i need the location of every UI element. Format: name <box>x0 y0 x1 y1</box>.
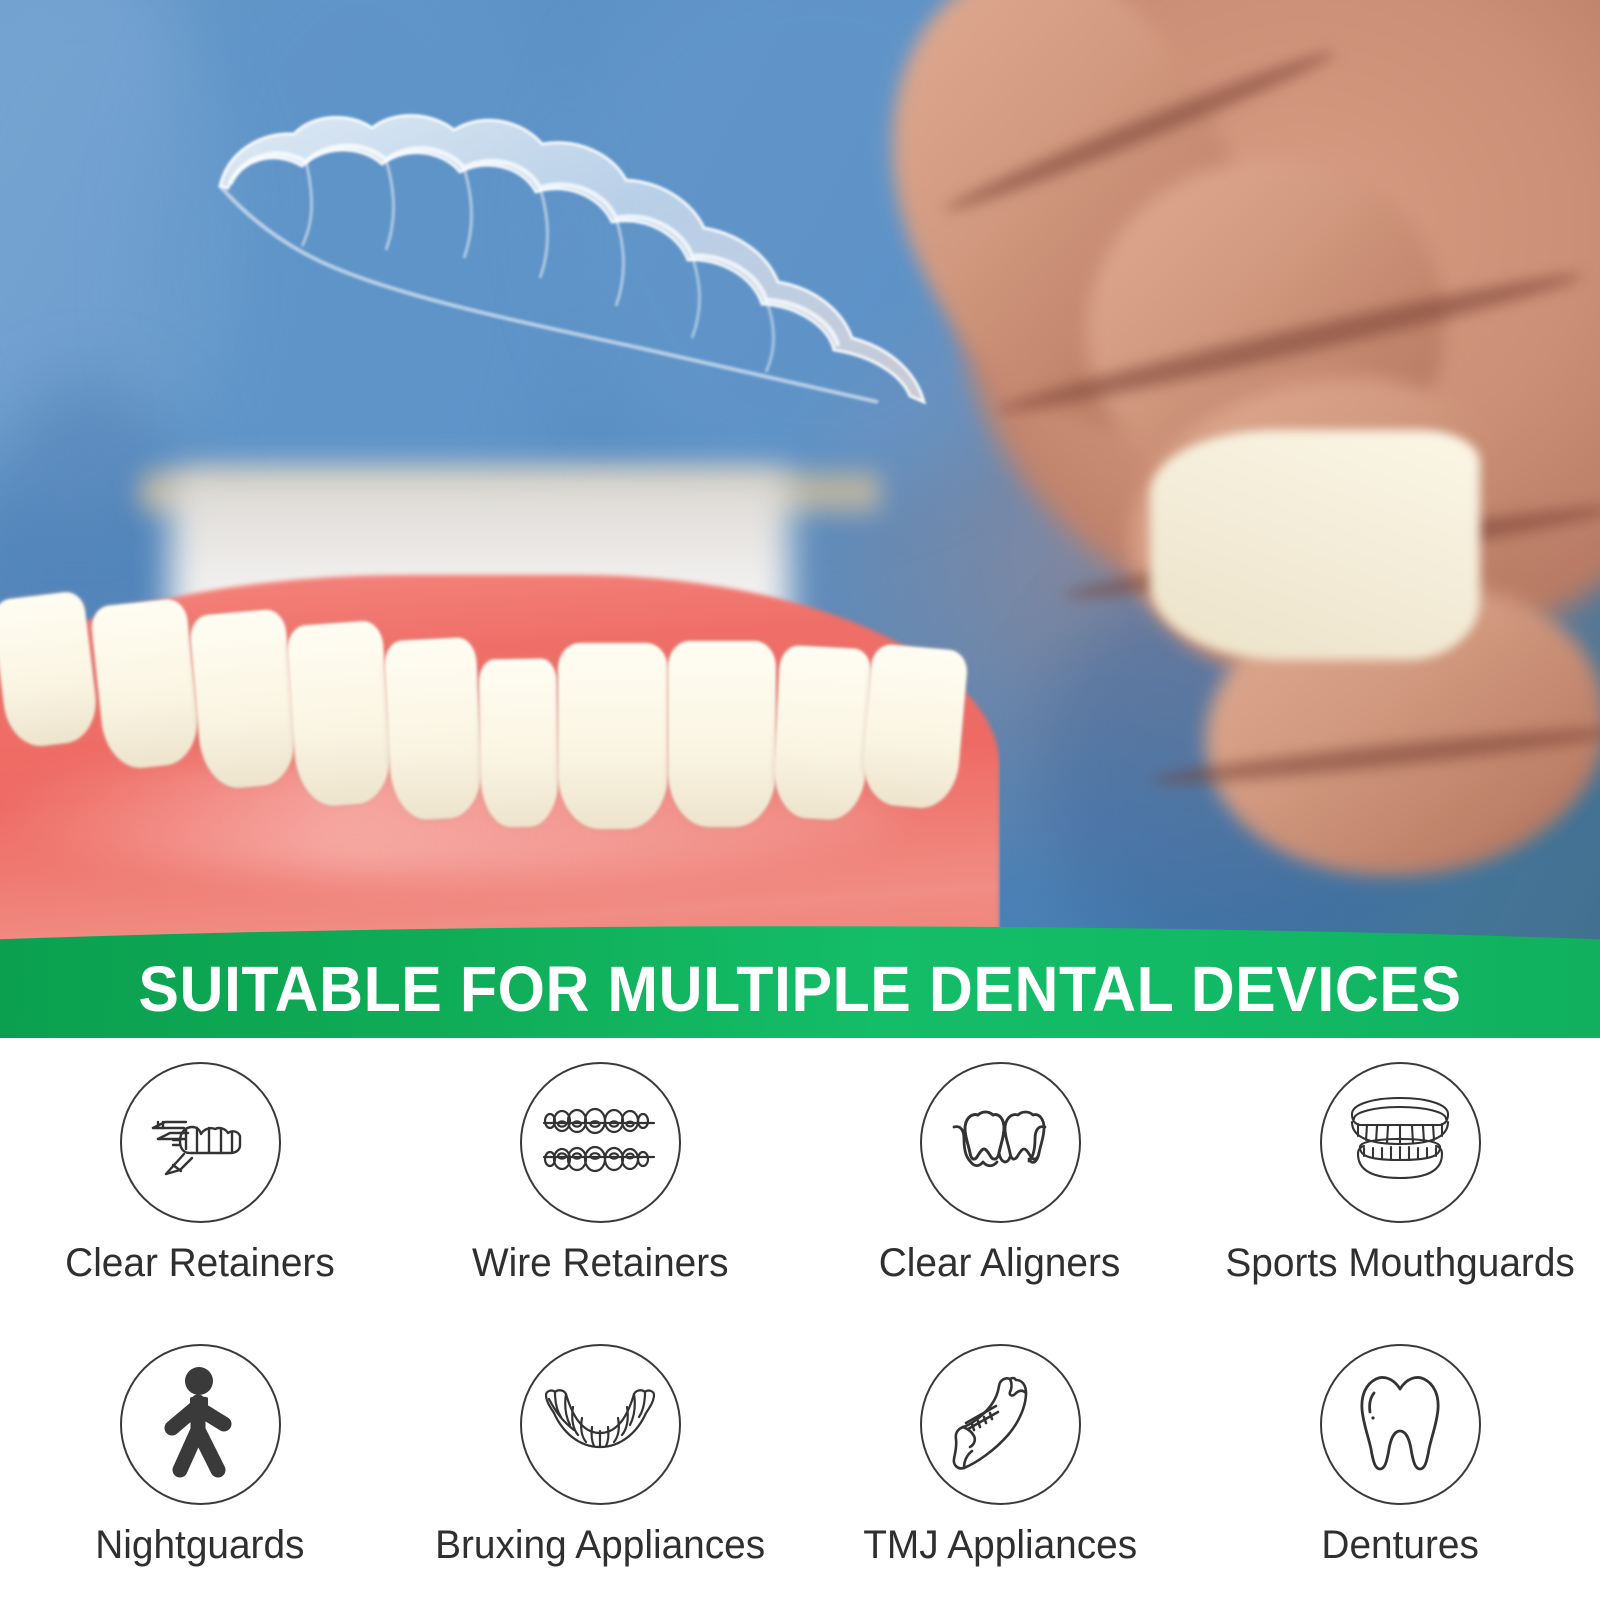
clear-aligner-tray <box>210 110 1160 410</box>
icon-circle <box>920 1344 1081 1505</box>
grid-item-sports-mouthguards[interactable]: Sports Mouthguards <box>1200 1040 1600 1320</box>
hero-photo-layers <box>0 0 1600 940</box>
model-tooth <box>286 620 394 808</box>
single-tooth-icon <box>1354 1369 1446 1481</box>
grid-item-clear-aligners[interactable]: Clear Aligners <box>800 1040 1200 1320</box>
promo-infographic: SUITABLE FOR MULTIPLE DENTAL DEVICES <box>0 0 1600 1600</box>
icon-circle <box>520 1062 681 1223</box>
hero-photo <box>0 0 1600 940</box>
three-teeth-aligner-tray-icon <box>939 1097 1061 1189</box>
model-tooth <box>479 658 560 827</box>
grid-item-dentures[interactable]: Dentures <box>1200 1320 1600 1600</box>
grid-item-clear-retainers[interactable]: Clear Retainers <box>0 1040 400 1320</box>
model-tooth <box>558 643 668 829</box>
grid-item-label: Nightguards <box>95 1525 304 1565</box>
full-denture-upper-lower-icon <box>1340 1092 1460 1194</box>
upper-teeth-right-blur <box>1150 430 1480 660</box>
icon-circle <box>520 1344 681 1505</box>
grid-item-tmj-appliances[interactable]: TMJ Appliances <box>800 1320 1200 1600</box>
grid-item-label: Clear Aligners <box>879 1243 1121 1283</box>
mandible-jaw-bone-icon <box>950 1369 1050 1481</box>
device-icon-grid: Clear Retainers <box>0 1040 1600 1600</box>
grid-item-bruxing-appliances[interactable]: Bruxing Appliances <box>400 1320 800 1600</box>
hand-holding-clear-retainer-icon <box>140 1088 260 1198</box>
icon-circle <box>1320 1062 1481 1223</box>
grid-item-label: TMJ Appliances <box>863 1525 1137 1565</box>
braces-brackets-wire-icon <box>541 1097 659 1189</box>
icon-circle <box>920 1062 1081 1223</box>
walking-person-icon <box>154 1366 246 1484</box>
grid-item-label: Wire Retainers <box>472 1243 729 1283</box>
icon-circle <box>120 1344 281 1505</box>
grid-item-nightguards[interactable]: Nightguards <box>0 1320 400 1600</box>
grid-item-label: Dentures <box>1321 1525 1478 1565</box>
icon-circle <box>120 1062 281 1223</box>
model-tooth <box>668 641 776 827</box>
headline-text: SUITABLE FOR MULTIPLE DENTAL DEVICES <box>40 952 1560 1026</box>
grid-item-label: Clear Retainers <box>65 1243 335 1283</box>
model-tooth <box>0 590 101 750</box>
model-tooth <box>859 643 969 811</box>
model-tooth <box>189 608 300 791</box>
model-tooth <box>772 645 873 822</box>
icon-circle <box>1320 1344 1481 1505</box>
grid-item-label: Sports Mouthguards <box>1225 1243 1574 1283</box>
grid-item-label: Bruxing Appliances <box>435 1525 765 1565</box>
model-tooth <box>383 637 484 822</box>
grid-item-wire-retainers[interactable]: Wire Retainers <box>400 1040 800 1320</box>
dental-arch-smile-icon <box>540 1385 660 1465</box>
dental-model-lower-jaw <box>0 455 1000 940</box>
